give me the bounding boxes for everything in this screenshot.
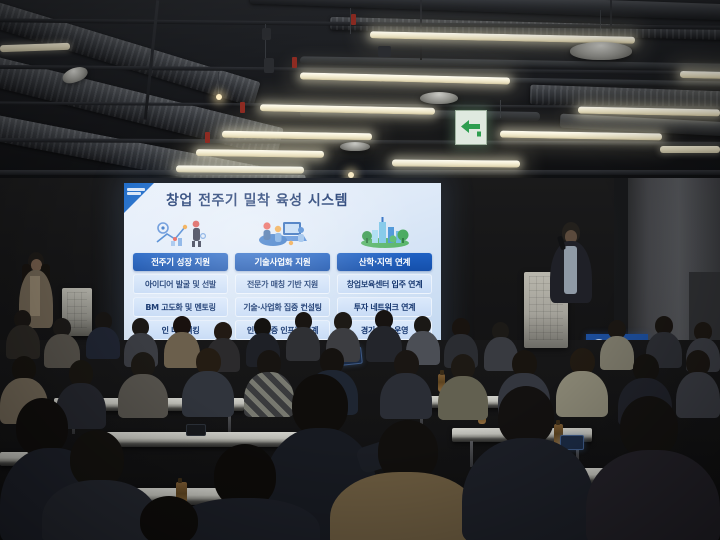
- dome-light-fixture: [340, 142, 370, 151]
- audience-member-foreground: [462, 386, 594, 540]
- pendant-bulb: [216, 94, 222, 100]
- green-city-icon: [337, 216, 432, 248]
- ceiling-light: [680, 71, 720, 80]
- column-cell: 창업보육센터 입주 연계: [337, 274, 432, 294]
- audience-member-foreground: [330, 420, 480, 540]
- presenter-shirt: [564, 246, 577, 294]
- column-cell: BM 고도화 및 멘토링: [133, 297, 228, 317]
- fire-sprinkler-marker: [351, 14, 356, 25]
- ceiling-speaker: [264, 58, 274, 73]
- light-hanger: [500, 100, 501, 118]
- ceiling-light: [300, 72, 510, 84]
- column-cell: 아이디어 발굴 및 선발: [133, 274, 228, 294]
- growth-chart-person-icon: [133, 216, 228, 248]
- audience-member: [44, 318, 80, 364]
- ceiling-light: [660, 146, 720, 153]
- ceiling-support: [420, 0, 422, 60]
- dome-light-fixture: [570, 42, 632, 60]
- audience-member: [6, 310, 40, 356]
- ceiling-light: [0, 43, 70, 52]
- organization-logo-icon: [127, 186, 147, 196]
- audience-member: [86, 312, 120, 356]
- exit-sign: [455, 110, 487, 145]
- dome-light-fixture: [420, 92, 458, 104]
- ceiling-duct: [250, 0, 720, 20]
- fire-sprinkler-marker: [205, 132, 210, 143]
- ceiling-beam: [0, 170, 720, 175]
- ceiling-light: [176, 165, 304, 173]
- fire-sprinkler-marker: [240, 102, 245, 113]
- audience-member: [182, 348, 234, 414]
- ceiling-light: [392, 159, 520, 167]
- ceiling-speaker: [378, 46, 391, 57]
- column-cell: 전문가 매칭 기반 지원: [235, 274, 330, 294]
- light-hanger: [600, 10, 601, 32]
- exit-arrow-left-icon: [458, 117, 484, 139]
- column-header: 기술사업화 지원: [235, 253, 330, 271]
- ceiling-light: [500, 131, 662, 141]
- audience-member: [118, 352, 168, 416]
- ceiling-sensor: [262, 28, 271, 40]
- column-header: 전주기 성장 지원: [133, 253, 228, 271]
- fire-sprinkler-marker: [292, 57, 297, 68]
- ceiling-area: [0, 0, 720, 182]
- audience-member: [380, 350, 432, 416]
- presentation-hall-photo: 언 창업 전주기 밀착 육성 시스템: [0, 0, 720, 540]
- column-header: 산학·지역 연계: [337, 253, 432, 271]
- audience-member-foreground: [100, 496, 240, 540]
- audience-member-foreground: [586, 396, 720, 540]
- light-hanger: [218, 72, 219, 96]
- smartphone-on-desk: [186, 424, 206, 436]
- presenter-at-podium: [548, 222, 594, 332]
- laptop-team-icon: [235, 216, 330, 248]
- slide-title: 창업 전주기 밀착 육성 시스템: [166, 190, 348, 210]
